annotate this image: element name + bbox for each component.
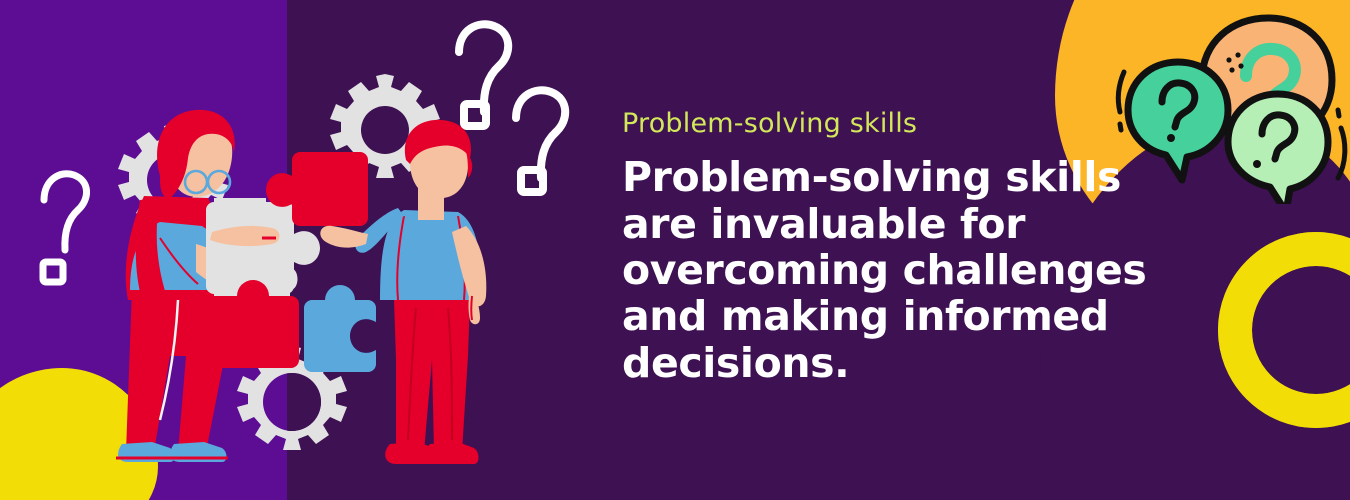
text-column: Problem-solving skills Problem-solving s… <box>622 108 1202 386</box>
illustration-two-people-puzzle <box>0 0 600 500</box>
headline-text: Problem-solving skills are invaluable fo… <box>622 154 1192 386</box>
problem-solving-skills-banner: Problem-solving skills Problem-solving s… <box>0 0 1350 500</box>
doodle-question-mark-right <box>516 90 565 192</box>
doodle-question-mark-top <box>459 24 508 126</box>
puzzle-piece-blue <box>304 285 376 372</box>
doodle-question-mark-left <box>43 174 87 282</box>
motion-ticks-right <box>1338 110 1345 178</box>
eyebrow-label: Problem-solving skills <box>622 108 1202 140</box>
bubble-mint-question <box>1228 94 1328 204</box>
